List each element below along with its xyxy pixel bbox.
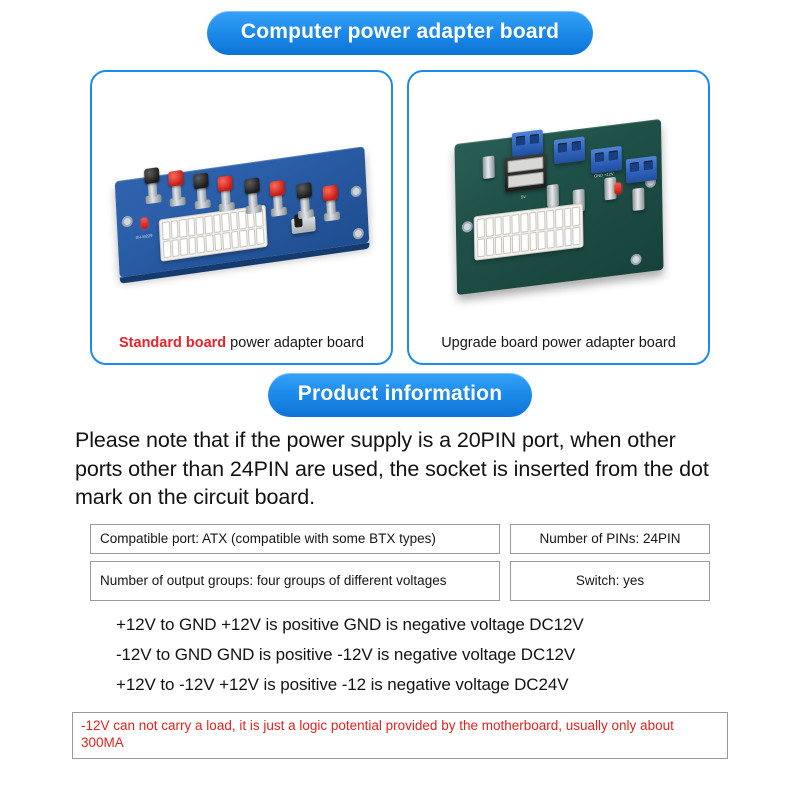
list-item: +12V to -12V +12V is positive -12 is neg… bbox=[90, 670, 710, 700]
power-led-icon bbox=[140, 217, 148, 229]
spec-number-of-pins: Number of PINs: 24PIN bbox=[510, 524, 710, 554]
product-photo-panels: XH-M229 bbox=[0, 70, 800, 365]
usb-port-icon bbox=[507, 171, 543, 187]
caption-rest: power adapter board bbox=[226, 335, 364, 351]
table-row: Compatible port: ATX (compatible with so… bbox=[90, 524, 710, 554]
page-title-badge: Computer power adapter board bbox=[207, 11, 593, 55]
screw-terminal-3 bbox=[590, 145, 621, 173]
capacitor-icon bbox=[546, 183, 558, 207]
silkscreen-label: 5V bbox=[520, 193, 525, 199]
blue-pcb: XH-M229 bbox=[114, 146, 369, 277]
screw-terminal-1 bbox=[511, 129, 542, 157]
spec-compatible-port: Compatible port: ATX (compatible with so… bbox=[90, 524, 500, 554]
product-info-badge-row: Product information bbox=[0, 365, 800, 417]
usb-port-icon bbox=[507, 156, 543, 172]
warning-notice: -12V can not carry a load, it is just a … bbox=[72, 712, 728, 759]
mount-hole-icon bbox=[350, 185, 361, 198]
capacitor-icon bbox=[482, 155, 494, 179]
photo-upgrade-board: 5V GND +12V bbox=[413, 78, 704, 335]
caption-highlight: Standard board bbox=[119, 335, 226, 351]
list-item: +12V to GND +12V is positive GND is nega… bbox=[90, 610, 710, 640]
binding-post-4 bbox=[217, 175, 234, 212]
spec-output-groups: Number of output groups: four groups of … bbox=[90, 561, 500, 601]
green-pcb: 5V GND +12V bbox=[454, 118, 663, 294]
screw-terminal-2 bbox=[553, 136, 584, 164]
product-information-badge: Product information bbox=[268, 373, 532, 417]
silkscreen-label: XH-M229 bbox=[135, 232, 152, 239]
binding-post-6 bbox=[269, 179, 286, 216]
mount-hole-icon bbox=[352, 227, 363, 240]
caption-upgrade-board: Upgrade board power adapter board bbox=[441, 335, 676, 355]
capacitor-icon bbox=[632, 187, 644, 211]
panel-upgrade-board[interactable]: 5V GND +12V Upgrade board power adapte bbox=[407, 70, 710, 365]
power-led-icon bbox=[614, 182, 621, 194]
list-item: -12V to GND GND is positive -12V is nega… bbox=[90, 640, 710, 670]
caption-standard-board: Standard board power adapter board bbox=[119, 335, 364, 355]
mount-hole-icon bbox=[121, 215, 132, 228]
binding-post-5 bbox=[244, 177, 261, 214]
screw-terminal-4 bbox=[625, 155, 656, 183]
panel-standard-board[interactable]: XH-M229 bbox=[90, 70, 393, 365]
table-row: Number of output groups: four groups of … bbox=[90, 561, 710, 601]
binding-post-8 bbox=[322, 184, 339, 221]
binding-post-2 bbox=[168, 169, 185, 206]
photo-standard-board: XH-M229 bbox=[96, 78, 387, 335]
mount-hole-icon bbox=[461, 220, 472, 232]
product-note-paragraph: Please note that if the power supply is … bbox=[75, 426, 725, 512]
voltage-specification-list: +12V to GND +12V is positive GND is nega… bbox=[90, 610, 710, 700]
mount-hole-icon bbox=[630, 253, 641, 265]
title-badge-row: Computer power adapter board bbox=[0, 0, 800, 55]
binding-post-7 bbox=[296, 182, 313, 219]
specification-table: Compatible port: ATX (compatible with so… bbox=[90, 524, 710, 601]
upgrade-board-illustration: 5V GND +12V bbox=[454, 118, 663, 294]
binding-post-3 bbox=[193, 172, 210, 209]
spec-switch: Switch: yes bbox=[510, 561, 710, 601]
atx-24pin-connector bbox=[473, 203, 583, 261]
usb-port-stack bbox=[504, 153, 546, 192]
binding-post-1 bbox=[143, 167, 160, 204]
standard-board-illustration: XH-M229 bbox=[114, 146, 369, 277]
